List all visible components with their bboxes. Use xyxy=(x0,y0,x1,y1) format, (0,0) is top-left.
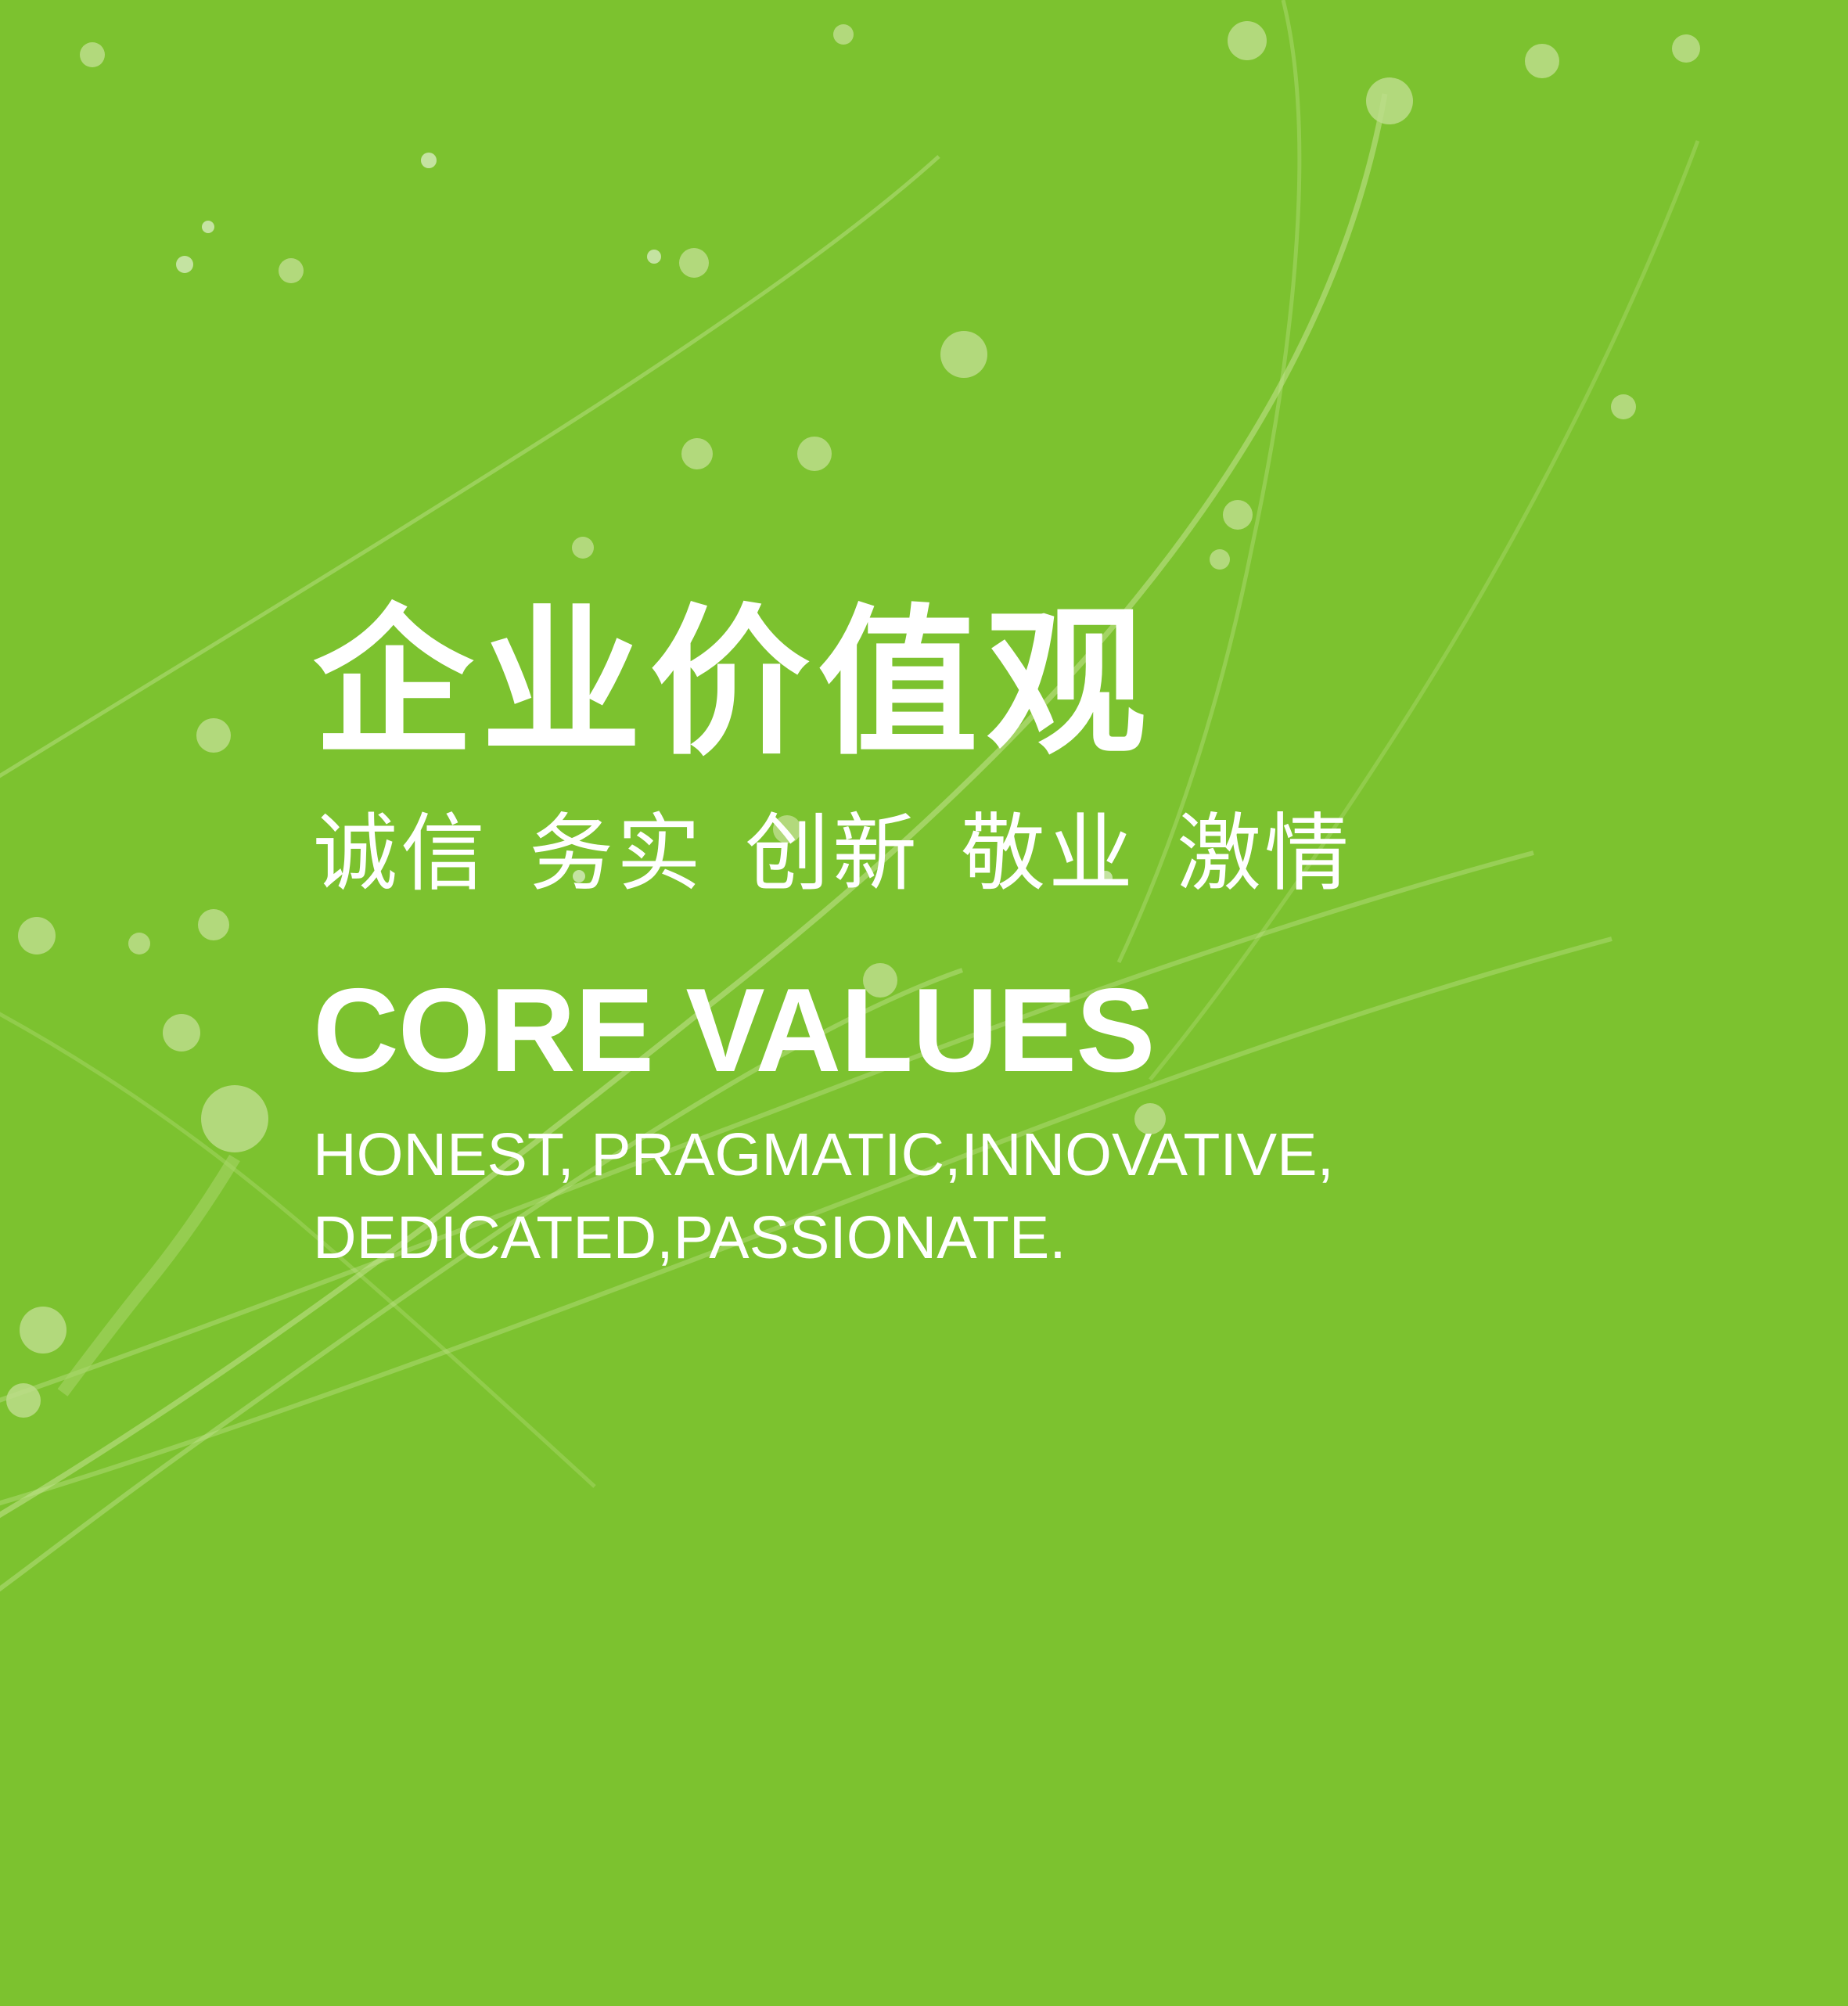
network-node xyxy=(201,1085,268,1152)
network-node xyxy=(833,24,854,45)
network-node xyxy=(940,331,987,378)
network-node xyxy=(1223,500,1253,530)
chinese-title: 企业价值观 xyxy=(313,602,1682,766)
english-title: CORE VALUES xyxy=(313,971,1682,1090)
poster-content: 企业价值观 诚信务实创新敬业激情 CORE VALUES HONEST, PRA… xyxy=(313,602,1682,1280)
network-node xyxy=(679,248,709,278)
network-node xyxy=(163,1014,200,1052)
chinese-value-3: 创新 xyxy=(745,805,920,903)
network-node xyxy=(6,1383,41,1418)
network-node xyxy=(279,258,304,283)
core-values-poster: 企业价值观 诚信务实创新敬业激情 CORE VALUES HONEST, PRA… xyxy=(0,0,1848,2006)
chinese-subtitle: 诚信务实创新敬业激情 xyxy=(313,801,1682,907)
network-node xyxy=(681,438,713,469)
network-node xyxy=(1525,44,1559,78)
network-node xyxy=(1210,549,1230,570)
english-body: HONEST, PRAGMATIC,INNOVATIVE, DEDICATED,… xyxy=(313,1113,1487,1280)
chinese-value-5: 激情 xyxy=(1177,805,1352,903)
network-node xyxy=(572,537,594,559)
network-node xyxy=(1611,394,1636,419)
chinese-value-2: 务实 xyxy=(529,805,704,903)
network-node xyxy=(18,917,56,954)
network-node xyxy=(20,1307,67,1354)
network-dot xyxy=(202,221,214,233)
chinese-value-1: 诚信 xyxy=(313,805,488,903)
network-dot xyxy=(647,250,661,264)
network-node xyxy=(1366,77,1413,124)
network-node xyxy=(196,718,231,753)
network-node xyxy=(198,909,229,940)
network-dot xyxy=(176,256,193,273)
network-dot xyxy=(421,153,437,168)
network-node xyxy=(80,42,105,67)
chinese-value-4: 敬业 xyxy=(961,805,1136,903)
network-node xyxy=(128,933,150,954)
network-node xyxy=(1228,21,1267,60)
network-node xyxy=(797,437,832,471)
english-body-line-1: HONEST, PRAGMATIC,INNOVATIVE, xyxy=(313,1113,1487,1196)
english-body-line-2: DEDICATED,PASSIONATE. xyxy=(313,1196,1487,1279)
network-node xyxy=(1672,34,1700,63)
